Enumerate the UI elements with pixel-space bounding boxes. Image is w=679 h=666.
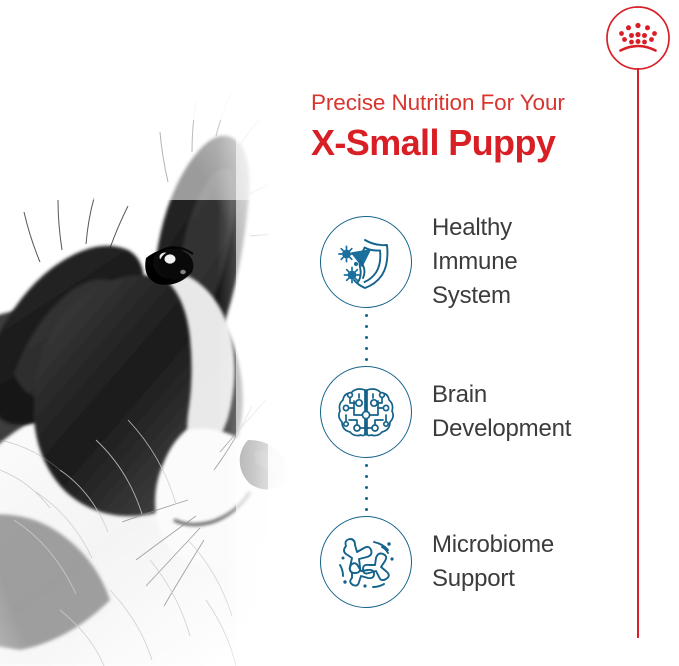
microbiome-bacteria-icon (320, 516, 412, 608)
headline-line-2: X-Small Puppy (311, 120, 641, 166)
benefit-label-immune: Healthy Immune System (432, 216, 637, 308)
brain-circuit-icon (320, 366, 412, 458)
benefit-item-brain: Brain Development (320, 366, 640, 516)
benefit-label-line: Development (432, 412, 637, 446)
shield-germs-icon (320, 216, 412, 308)
benefits-list: Healthy Immune System (320, 216, 640, 666)
connector-dots (365, 464, 368, 514)
benefit-label-brain: Brain Development (432, 366, 637, 458)
puppy-photo (0, 0, 310, 666)
royal-canin-crown-icon (604, 4, 672, 72)
headline-line-1: Precise Nutrition For Your (311, 88, 641, 117)
benefit-label-line: Support (432, 562, 637, 596)
benefit-label-microbiome: Microbiome Support (432, 516, 637, 608)
benefit-label-line: Brain (432, 378, 637, 412)
page-title: Precise Nutrition For Your X-Small Puppy (311, 88, 641, 166)
benefit-label-line: Microbiome (432, 528, 637, 562)
benefit-item-immune: Healthy Immune System (320, 216, 640, 366)
benefit-label-line: Immune (432, 245, 637, 279)
benefit-label-line: Healthy (432, 211, 637, 245)
benefit-item-microbiome: Microbiome Support (320, 516, 640, 666)
infographic-canvas: Precise Nutrition For Your X-Small Puppy (0, 0, 679, 666)
benefit-label-line: System (432, 279, 637, 313)
connector-dots (365, 314, 368, 364)
